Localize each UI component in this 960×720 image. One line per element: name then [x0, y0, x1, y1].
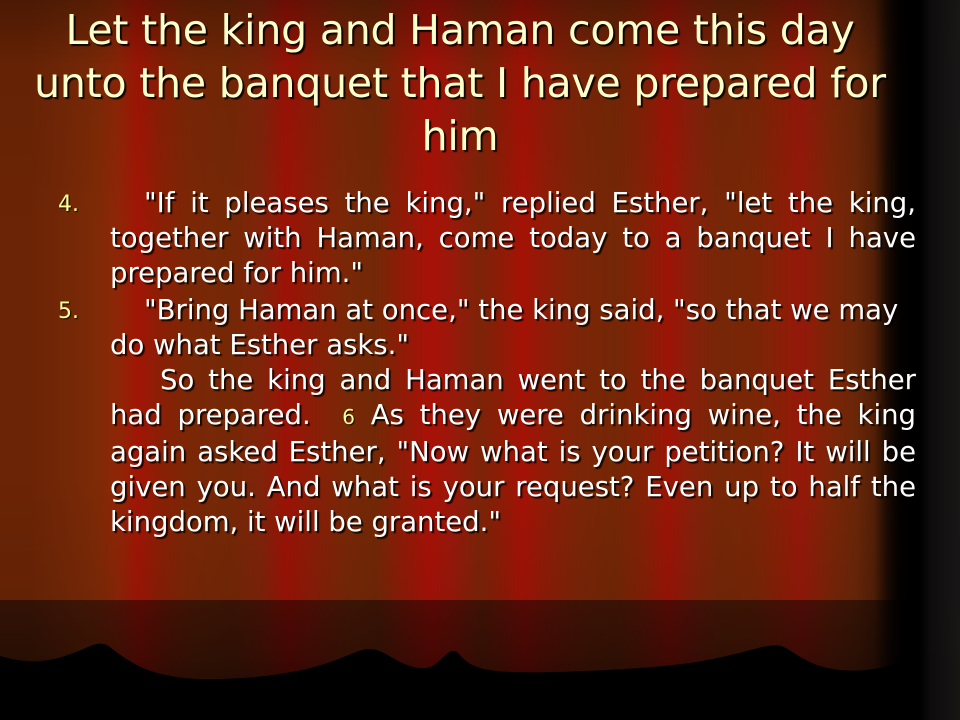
- narrative-paragraph: So the king and Haman went to the banque…: [44, 363, 916, 540]
- list-item-number: 5.: [58, 295, 98, 328]
- list-item: 5. "Bring Haman at once," the king said,…: [44, 293, 916, 363]
- list-item-text: "If it pleases the king," replied Esther…: [110, 186, 916, 291]
- list-item-body: "Bring Haman at once," the king said, "s…: [110, 294, 898, 361]
- list-item-number: 4.: [58, 188, 98, 221]
- list-item-text: "Bring Haman at once," the king said, "s…: [110, 293, 916, 363]
- slide-body: 4. "If it pleases the king," replied Est…: [44, 186, 916, 540]
- verse-number: 6: [342, 405, 355, 429]
- list-item: 4. "If it pleases the king," replied Est…: [44, 186, 916, 291]
- list-item-body: "If it pleases the king," replied Esther…: [110, 187, 916, 289]
- slide-canvas: Let the king and Haman come this day unt…: [0, 0, 960, 720]
- slide-title: Let the king and Haman come this day unt…: [20, 4, 900, 163]
